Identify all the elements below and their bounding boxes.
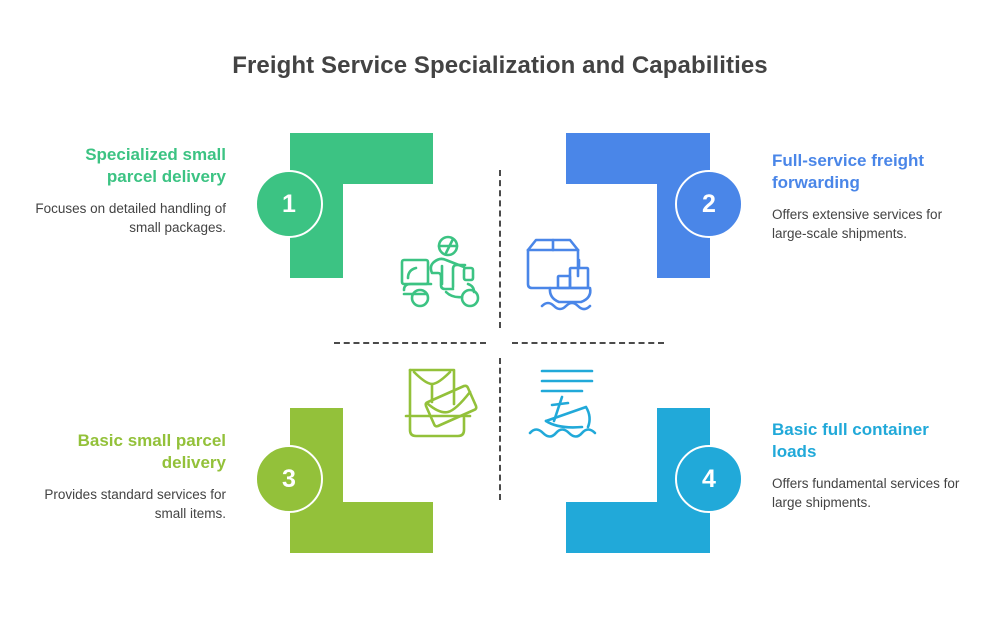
divider-vertical-top xyxy=(499,170,501,328)
quadrant-text-3: Basic small parcel delivery Provides sta… xyxy=(34,430,226,523)
step-number-badge-4[interactable]: 4 xyxy=(675,445,743,513)
step-number-badge-3[interactable]: 3 xyxy=(255,445,323,513)
delivery-scooter-icon xyxy=(390,232,486,317)
step-number-label: 1 xyxy=(282,192,296,217)
divider-horizontal-right xyxy=(512,342,664,344)
block-bar-horizontal xyxy=(290,502,433,553)
step-number-label: 4 xyxy=(702,467,716,492)
quadrant-body-1: Focuses on detailed handling of small pa… xyxy=(34,199,226,238)
block-bar-horizontal xyxy=(566,502,710,553)
step-number-label: 2 xyxy=(702,192,716,217)
step-number-badge-1[interactable]: 1 xyxy=(255,170,323,238)
divider-horizontal-left xyxy=(334,342,486,344)
box-cargo-ship-icon xyxy=(522,232,614,317)
divider-vertical-bottom xyxy=(499,358,501,500)
infographic-canvas: Freight Service Specialization and Capab… xyxy=(0,0,1000,625)
sailing-ship-waves-icon xyxy=(520,363,612,448)
quadrant-body-3: Provides standard services for small ite… xyxy=(34,485,226,524)
quadrant-heading-4: Basic full container loads xyxy=(772,419,964,463)
quadrant-heading-2: Full-service freight forwarding xyxy=(772,150,964,194)
mail-tray-envelopes-icon xyxy=(392,360,484,447)
quadrant-heading-3: Basic small parcel delivery xyxy=(34,430,226,474)
quadrant-body-2: Offers extensive services for large-scal… xyxy=(772,205,964,244)
quadrant-body-4: Offers fundamental services for large sh… xyxy=(772,474,964,513)
quadrant-text-1: Specialized small parcel delivery Focuse… xyxy=(34,144,226,237)
quadrant-text-4: Basic full container loads Offers fundam… xyxy=(772,419,964,512)
step-number-badge-2[interactable]: 2 xyxy=(675,170,743,238)
page-title: Freight Service Specialization and Capab… xyxy=(0,52,1000,80)
quadrant-heading-1: Specialized small parcel delivery xyxy=(34,144,226,188)
quadrant-text-2: Full-service freight forwarding Offers e… xyxy=(772,150,964,243)
step-number-label: 3 xyxy=(282,467,296,492)
